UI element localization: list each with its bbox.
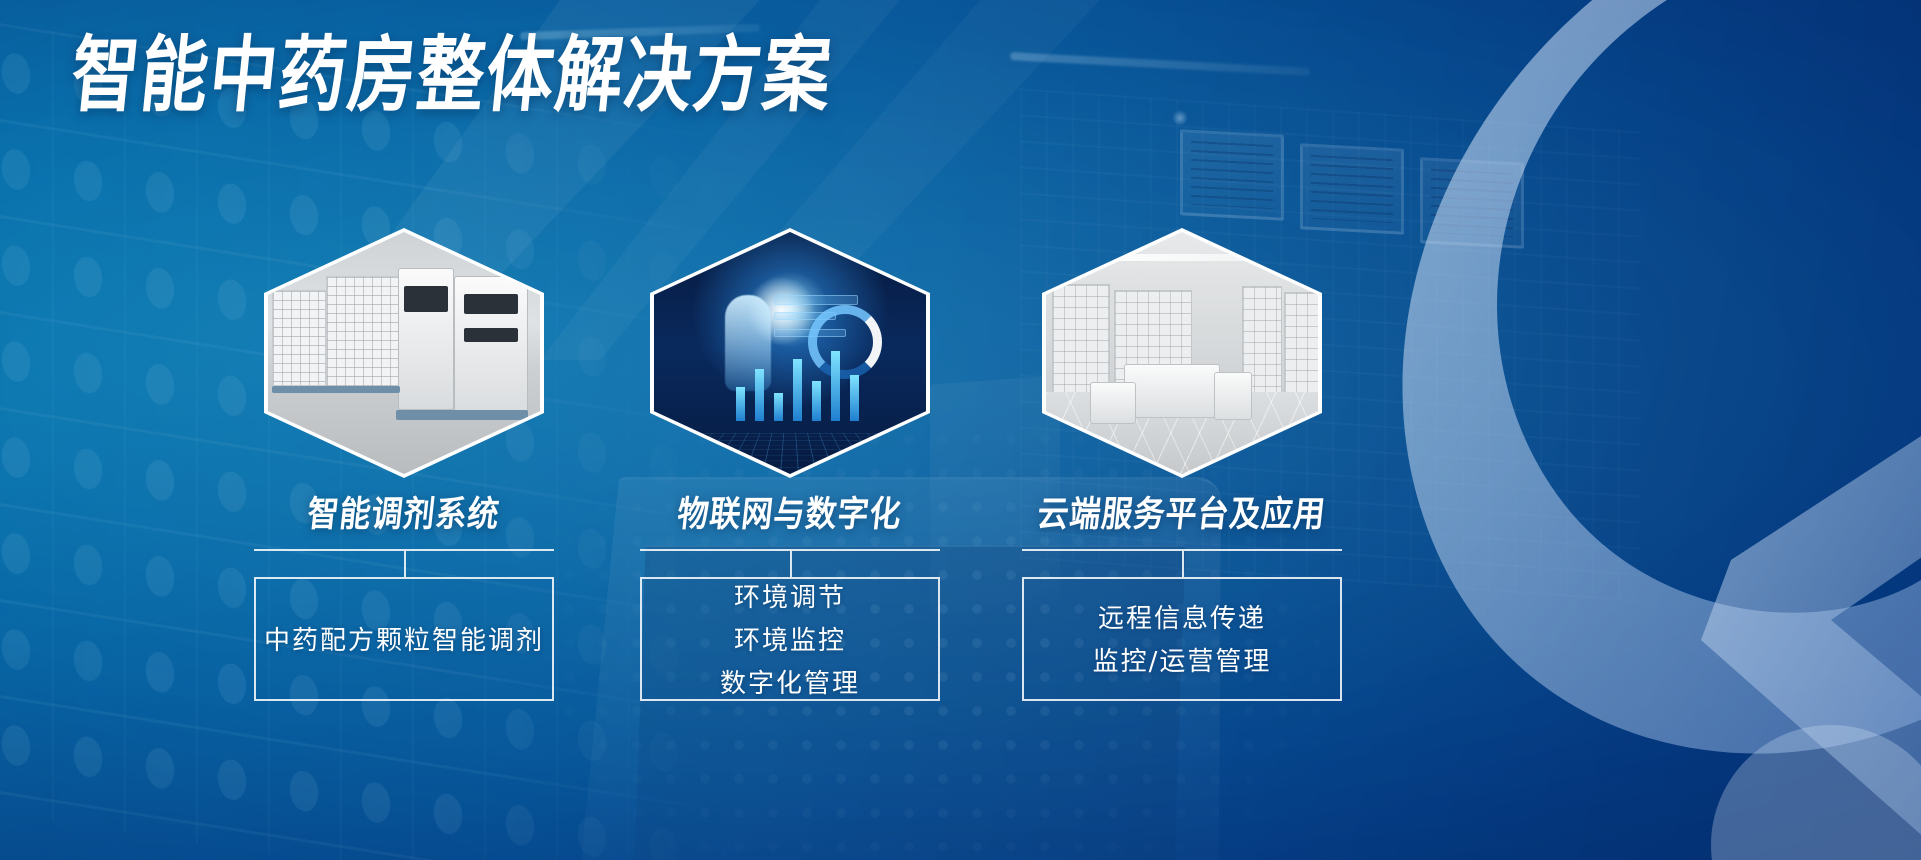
card-cloud-service-platform[interactable]: 云端服务平台及应用 远程信息传递 监控/运营管理 bbox=[1012, 228, 1352, 701]
hexagon-photo-pharmacy-room bbox=[1042, 228, 1322, 478]
hexagon-image-clip bbox=[268, 232, 540, 474]
hexagon-photo-dispensing-machines bbox=[264, 228, 544, 478]
hexagon-photo-digital-data-hand bbox=[650, 228, 930, 478]
card-divider-rule bbox=[254, 549, 554, 551]
card-line: 环境调节 bbox=[734, 577, 846, 614]
card-iot-digitalization[interactable]: 物联网与数字化 环境调节 环境监控 数字化管理 bbox=[620, 228, 960, 701]
card-content-box: 远程信息传递 监控/运营管理 bbox=[1022, 577, 1342, 701]
photo-pharmacy-room bbox=[1046, 232, 1318, 474]
card-intelligent-dispensing[interactable]: 智能调剂系统 中药配方颗粒智能调剂 bbox=[234, 228, 574, 701]
card-divider-rule bbox=[640, 549, 940, 551]
photo-digital-dashboard bbox=[654, 232, 926, 474]
card-connector-line bbox=[1182, 551, 1184, 577]
card-divider-rule bbox=[1022, 549, 1342, 551]
card-heading: 云端服务平台及应用 bbox=[1009, 485, 1355, 536]
card-heading: 智能调剂系统 bbox=[231, 485, 577, 536]
card-line: 监控/运营管理 bbox=[1093, 641, 1272, 678]
card-line: 数字化管理 bbox=[720, 663, 860, 700]
photo-dispensing-machines bbox=[268, 232, 540, 474]
card-line: 环境监控 bbox=[734, 620, 846, 657]
hexagon-image-clip bbox=[1046, 232, 1318, 474]
card-line: 中药配方颗粒智能调剂 bbox=[264, 620, 544, 657]
banner-root: 智能中药房整体解决方案 bbox=[0, 0, 1921, 860]
card-line: 远程信息传递 bbox=[1098, 598, 1266, 635]
card-content-box: 环境调节 环境监控 数字化管理 bbox=[640, 577, 940, 701]
card-content-box: 中药配方颗粒智能调剂 bbox=[254, 577, 554, 701]
card-connector-line bbox=[790, 551, 792, 577]
hexagon-image-clip bbox=[654, 232, 926, 474]
card-heading: 物联网与数字化 bbox=[617, 485, 963, 536]
card-connector-line bbox=[404, 551, 406, 577]
cards-container: 智能调剂系统 中药配方颗粒智能调剂 bbox=[0, 0, 1921, 860]
